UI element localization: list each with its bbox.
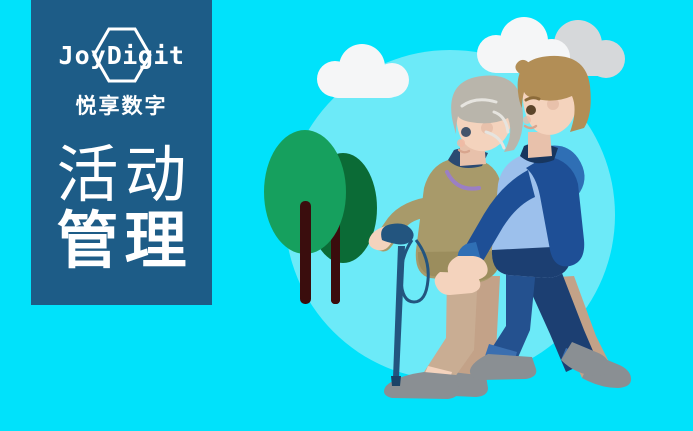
brand-subtitle: 悦享数字 — [76, 96, 168, 117]
logo-wordmark: JoyDigit — [59, 43, 185, 68]
page-title-line-2: 管理 — [50, 209, 192, 275]
brand-panel: JoyDigit 悦享数字 活动 管理 — [31, 0, 212, 305]
logo-block: JoyDigit — [42, 26, 202, 84]
logo-wordmark-joy: Joy — [59, 41, 107, 70]
woman-eye — [461, 127, 471, 137]
man-neck — [528, 132, 552, 158]
cane-tip — [391, 376, 401, 386]
logo-wordmark-digit: Digit — [107, 41, 185, 70]
page-title-line-1: 活动 — [50, 143, 192, 209]
woman-cheek — [457, 139, 465, 147]
page-title: 活动 管理 — [50, 143, 192, 276]
poster-canvas: JoyDigit 悦享数字 活动 管理 — [0, 0, 693, 431]
man-eye — [526, 105, 536, 115]
man-cheek — [523, 116, 531, 124]
